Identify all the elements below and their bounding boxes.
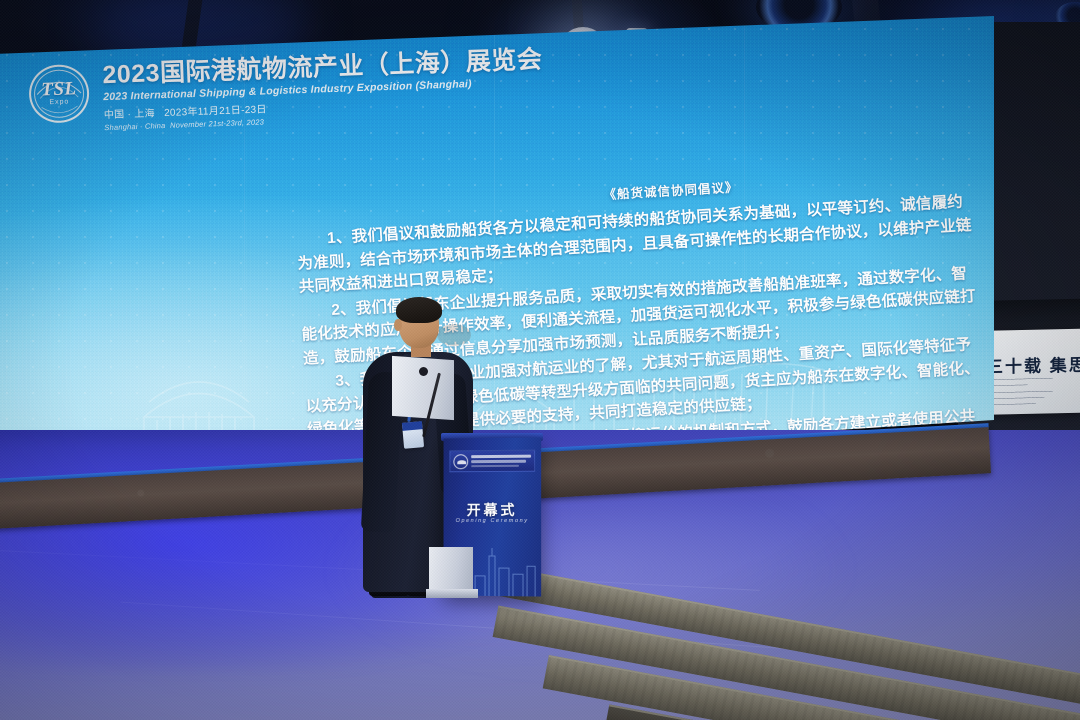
podium-logo-icon bbox=[453, 454, 468, 469]
microphone-icon bbox=[419, 367, 428, 376]
podium-base-plinth bbox=[426, 589, 478, 598]
conference-stage-photo: 石三十载 集思 ———————————————————— ———————————… bbox=[0, 0, 1080, 720]
speaker-badge bbox=[402, 421, 424, 449]
podium-header-strip bbox=[449, 450, 535, 473]
podium-sub-title: Opening Ceremony bbox=[444, 518, 542, 524]
speaker-ear bbox=[394, 319, 402, 331]
lectern-shelf bbox=[392, 356, 454, 420]
podium-base bbox=[429, 547, 473, 595]
podium-header-text bbox=[471, 453, 531, 469]
tsl-expo-logo-icon: TSL Expo bbox=[24, 64, 94, 126]
speaker-hair bbox=[396, 297, 442, 323]
